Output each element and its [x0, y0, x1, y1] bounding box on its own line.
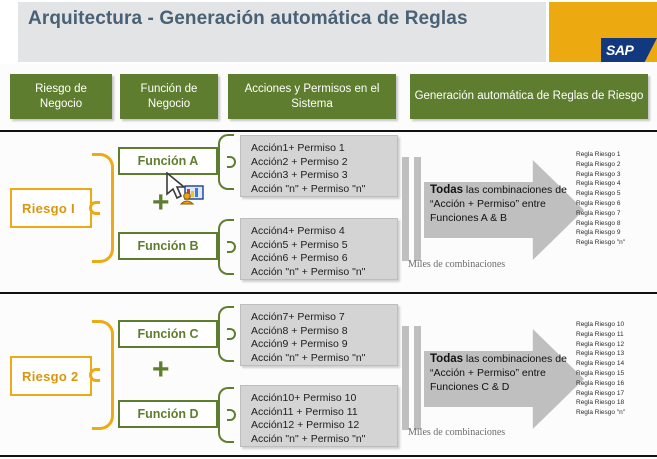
rule-item: Regla Riesgo 6 — [576, 199, 657, 209]
rule-item: Regla Riesgo 5 — [576, 189, 657, 199]
action-item: Acción2 + Permiso 2 — [251, 156, 397, 170]
slide-header: Arquitectura - Generación automática de … — [0, 0, 657, 64]
rule-item: Regla Riesgo 7 — [576, 209, 657, 219]
function-c-brace — [218, 306, 234, 362]
risk-brace-1 — [92, 153, 114, 263]
rule-item: Regla Riesgo 15 — [576, 369, 657, 379]
combination-arrow-label-1: Todas las combinaciones de “Acción + Per… — [430, 183, 580, 225]
caption-miles-2: Miles de combinaciones — [408, 427, 505, 438]
rule-item: Regla Riesgo 2 — [576, 160, 657, 170]
grey-bar-1a — [402, 157, 409, 261]
action-item: Acción9 + Permiso 9 — [251, 338, 397, 352]
action-item: Acción11 + Permiso 11 — [251, 406, 397, 420]
rule-item: Regla Riesgo 4 — [576, 179, 657, 189]
risk-brace-2 — [92, 320, 114, 430]
rule-item: Regla Riesgo 17 — [576, 389, 657, 399]
function-box-c[interactable]: Función C — [118, 320, 218, 348]
section-divider-bottom — [0, 455, 657, 457]
action-list-1: Acción1+ Permiso 1 Acción2 + Permiso 2 A… — [240, 135, 398, 197]
rule-item: Regla Riesgo 11 — [576, 330, 657, 340]
action-item: Acción "n" + Permiso "n" — [251, 183, 397, 197]
slide-canvas: Arquitectura - Generación automática de … — [0, 0, 657, 459]
rule-list-1: Regla Riesgo 1 Regla Riesgo 2 Regla Ries… — [576, 150, 657, 248]
action-item: Acción5 + Permiso 5 — [251, 239, 397, 253]
action-list-2: Acción4+ Permiso 4 Acción5 + Permiso 5 A… — [240, 218, 398, 280]
sap-brand-block: SAP — [549, 2, 657, 62]
action-item: Acción8 + Permiso 8 — [251, 325, 397, 339]
grey-bar-1b — [414, 157, 421, 261]
action-item: Acción10+ Permiso 10 — [251, 392, 397, 406]
rule-item: Regla Riesgo 9 — [576, 228, 657, 238]
rule-item: Regla Riesgo 3 — [576, 170, 657, 180]
combination-arrow-label-2: Todas las combinaciones de “Acción + Per… — [430, 352, 580, 394]
rule-item: Regla Riesgo "n" — [576, 238, 657, 248]
nav-box-riesgo-negocio[interactable]: Riesgo de Negocio — [10, 74, 112, 119]
rule-item: Regla Riesgo 16 — [576, 379, 657, 389]
grey-bar-2a — [402, 326, 409, 430]
function-box-b[interactable]: Función B — [118, 232, 218, 260]
sap-logo: SAP — [601, 38, 657, 62]
arrow-label-bold: Todas — [430, 184, 463, 196]
function-a-brace — [218, 134, 234, 190]
action-list-3: Acción7+ Permiso 7 Acción8 + Permiso 8 A… — [240, 304, 398, 366]
rule-item: Regla Riesgo 13 — [576, 349, 657, 359]
rule-list-2: Regla Riesgo 10 Regla Riesgo 11 Regla Ri… — [576, 320, 657, 418]
function-d-brace — [218, 387, 234, 443]
rule-item: Regla Riesgo 18 — [576, 398, 657, 408]
action-item: Acción "n" + Permiso "n" — [251, 266, 397, 280]
nav-box-generacion-reglas[interactable]: Generación automática de Reglas de Riesg… — [410, 74, 648, 119]
grey-bar-2b — [414, 326, 421, 430]
caption-miles-1: Miles de combinaciones — [408, 259, 505, 270]
section-divider-middle — [0, 292, 657, 294]
nav-box-acciones-permisos[interactable]: Acciones y Permisos en el Sistema — [228, 74, 396, 119]
rule-item: Regla Riesgo "n" — [576, 408, 657, 418]
function-box-d[interactable]: Función D — [118, 400, 218, 428]
action-item: Acción4+ Permiso 4 — [251, 225, 397, 239]
nav-box-funcion-negocio[interactable]: Función de Negocio — [120, 74, 218, 119]
action-item: Acción12 + Permiso 12 — [251, 419, 397, 433]
action-item: Acción "n" + Permiso "n" — [251, 352, 397, 366]
plus-sign-2: + — [152, 355, 170, 385]
rule-item: Regla Riesgo 8 — [576, 219, 657, 229]
action-item: Acción7+ Permiso 7 — [251, 311, 397, 325]
action-item: Acción6 + Permiso 6 — [251, 252, 397, 266]
rule-item: Regla Riesgo 12 — [576, 340, 657, 350]
arrow-label-bold: Todas — [430, 353, 463, 365]
section-divider-top — [0, 130, 657, 132]
mouse-cursor-icon — [165, 172, 211, 208]
risk-box-2[interactable]: Riesgo 2 — [10, 356, 92, 396]
action-list-4: Acción10+ Permiso 10 Acción11 + Permiso … — [240, 385, 398, 447]
risk-box-1[interactable]: Riesgo I — [10, 188, 92, 228]
rule-item: Regla Riesgo 14 — [576, 359, 657, 369]
function-b-brace — [218, 219, 234, 275]
function-box-a[interactable]: Función A — [118, 147, 218, 175]
rule-item: Regla Riesgo 10 — [576, 320, 657, 330]
action-item: Acción "n" + Permiso "n" — [251, 433, 397, 447]
action-item: Acción3 + Permiso 3 — [251, 169, 397, 183]
rule-item: Regla Riesgo 1 — [576, 150, 657, 160]
page-title: Arquitectura - Generación automática de … — [28, 6, 538, 31]
action-item: Acción1+ Permiso 1 — [251, 142, 397, 156]
